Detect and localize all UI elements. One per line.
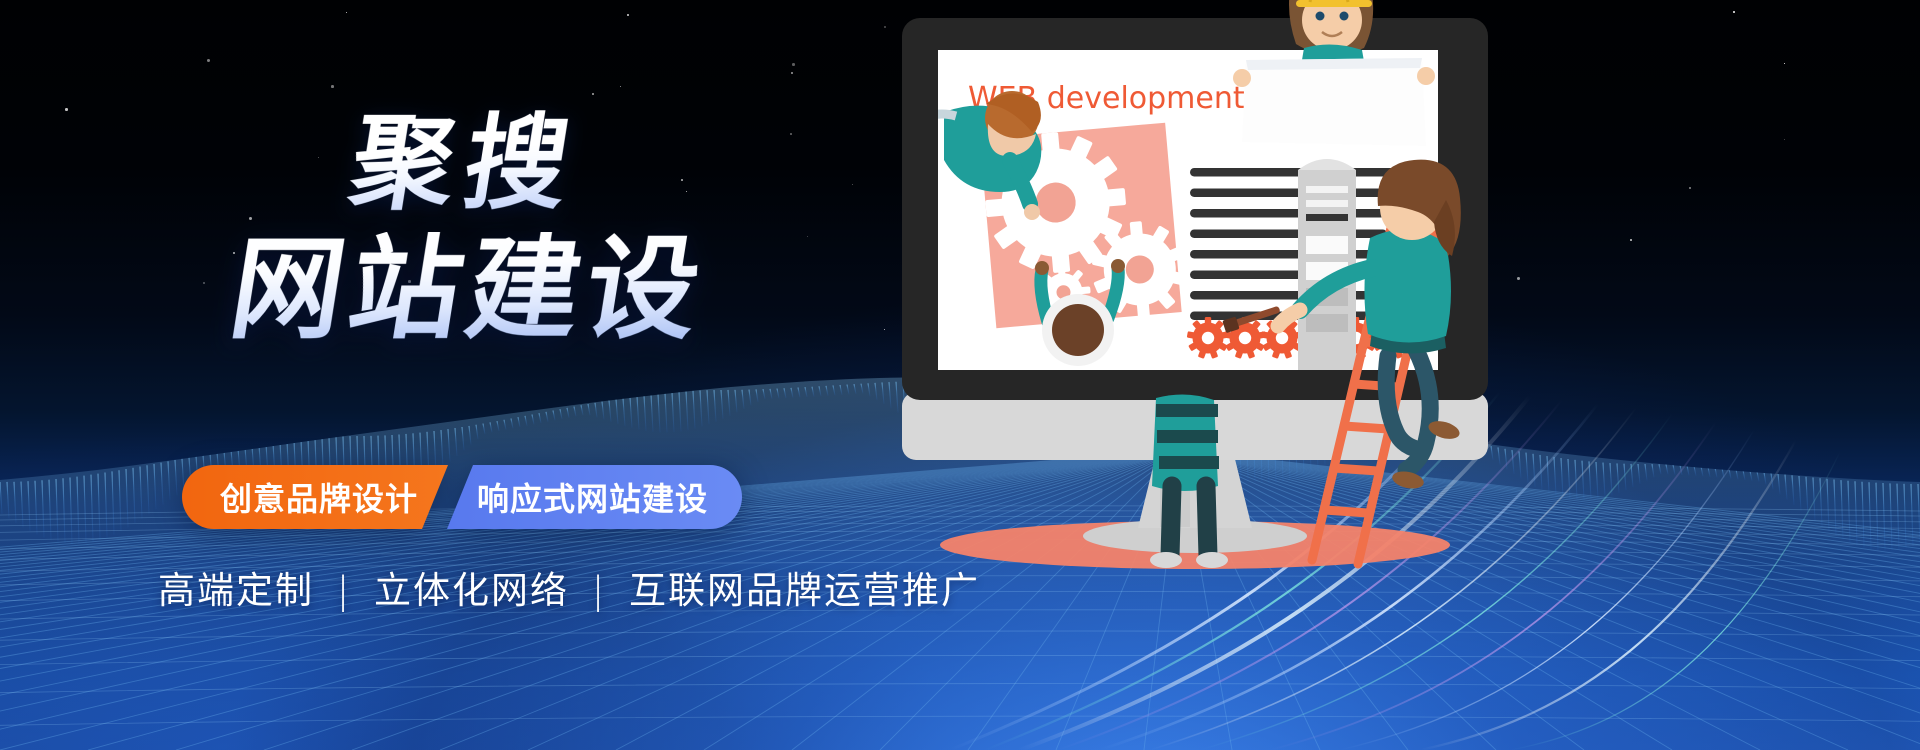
badge-responsive-website[interactable]: 响应式网站建设	[447, 465, 742, 529]
screen-text-line	[1190, 230, 1387, 239]
web-development-illustration: WEB development	[860, 0, 1920, 750]
tagline-separator-2: |	[592, 569, 606, 612]
badge-group: 创意品牌设计 响应式网站建设	[182, 465, 742, 529]
painter-shirt	[1364, 229, 1451, 342]
headline-block: 聚搜 网站建设 创意品牌设计 响应式网站建设 高端定制 | 立体化网络 | 互联…	[0, 0, 900, 750]
badge-creative-brand-design[interactable]: 创意品牌设计	[182, 465, 448, 529]
page-headline: 网站建设	[223, 232, 714, 350]
tagline-separator-1: |	[337, 569, 351, 612]
blueprint	[1242, 58, 1426, 146]
tagline: 高端定制 | 立体化网络 | 互联网品牌运营推广	[158, 560, 980, 614]
brand-title: 聚搜	[343, 110, 586, 218]
tagline-part-1: 高端定制	[158, 569, 314, 612]
promo-banner: 聚搜 网站建设 创意品牌设计 响应式网站建设 高端定制 | 立体化网络 | 互联…	[0, 0, 1920, 750]
tagline-part-2: 立体化网络	[374, 569, 569, 612]
